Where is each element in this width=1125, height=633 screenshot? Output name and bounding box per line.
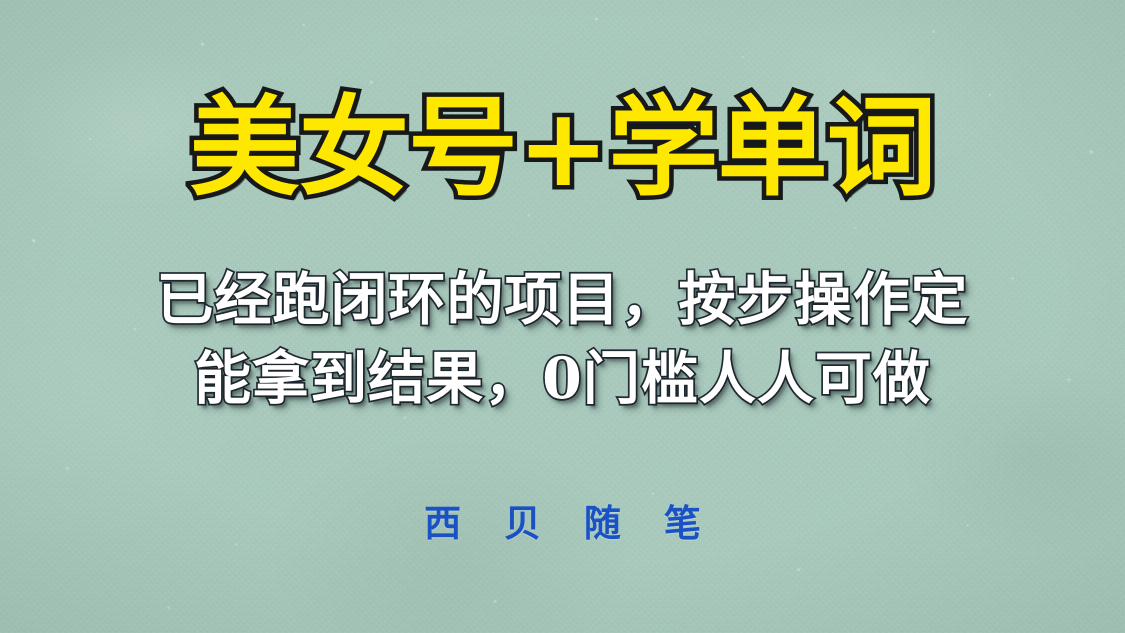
poster-content: 美女号+学单词 已经跑闭环的项目，按步操作定 能拿到结果，0门槛人人可做 西 贝… bbox=[0, 0, 1125, 633]
subtitle-line-2: 能拿到结果，0门槛人人可做 bbox=[157, 340, 969, 419]
headline-title: 美女号+学单词 bbox=[189, 92, 935, 205]
author-signature: 西 贝 随 笔 bbox=[409, 493, 716, 547]
subtitle-block: 已经跑闭环的项目，按步操作定 能拿到结果，0门槛人人可做 bbox=[157, 261, 969, 418]
poster-canvas: 美女号+学单词 已经跑闭环的项目，按步操作定 能拿到结果，0门槛人人可做 西 贝… bbox=[0, 0, 1125, 633]
subtitle-line-1: 已经跑闭环的项目，按步操作定 bbox=[157, 261, 969, 340]
